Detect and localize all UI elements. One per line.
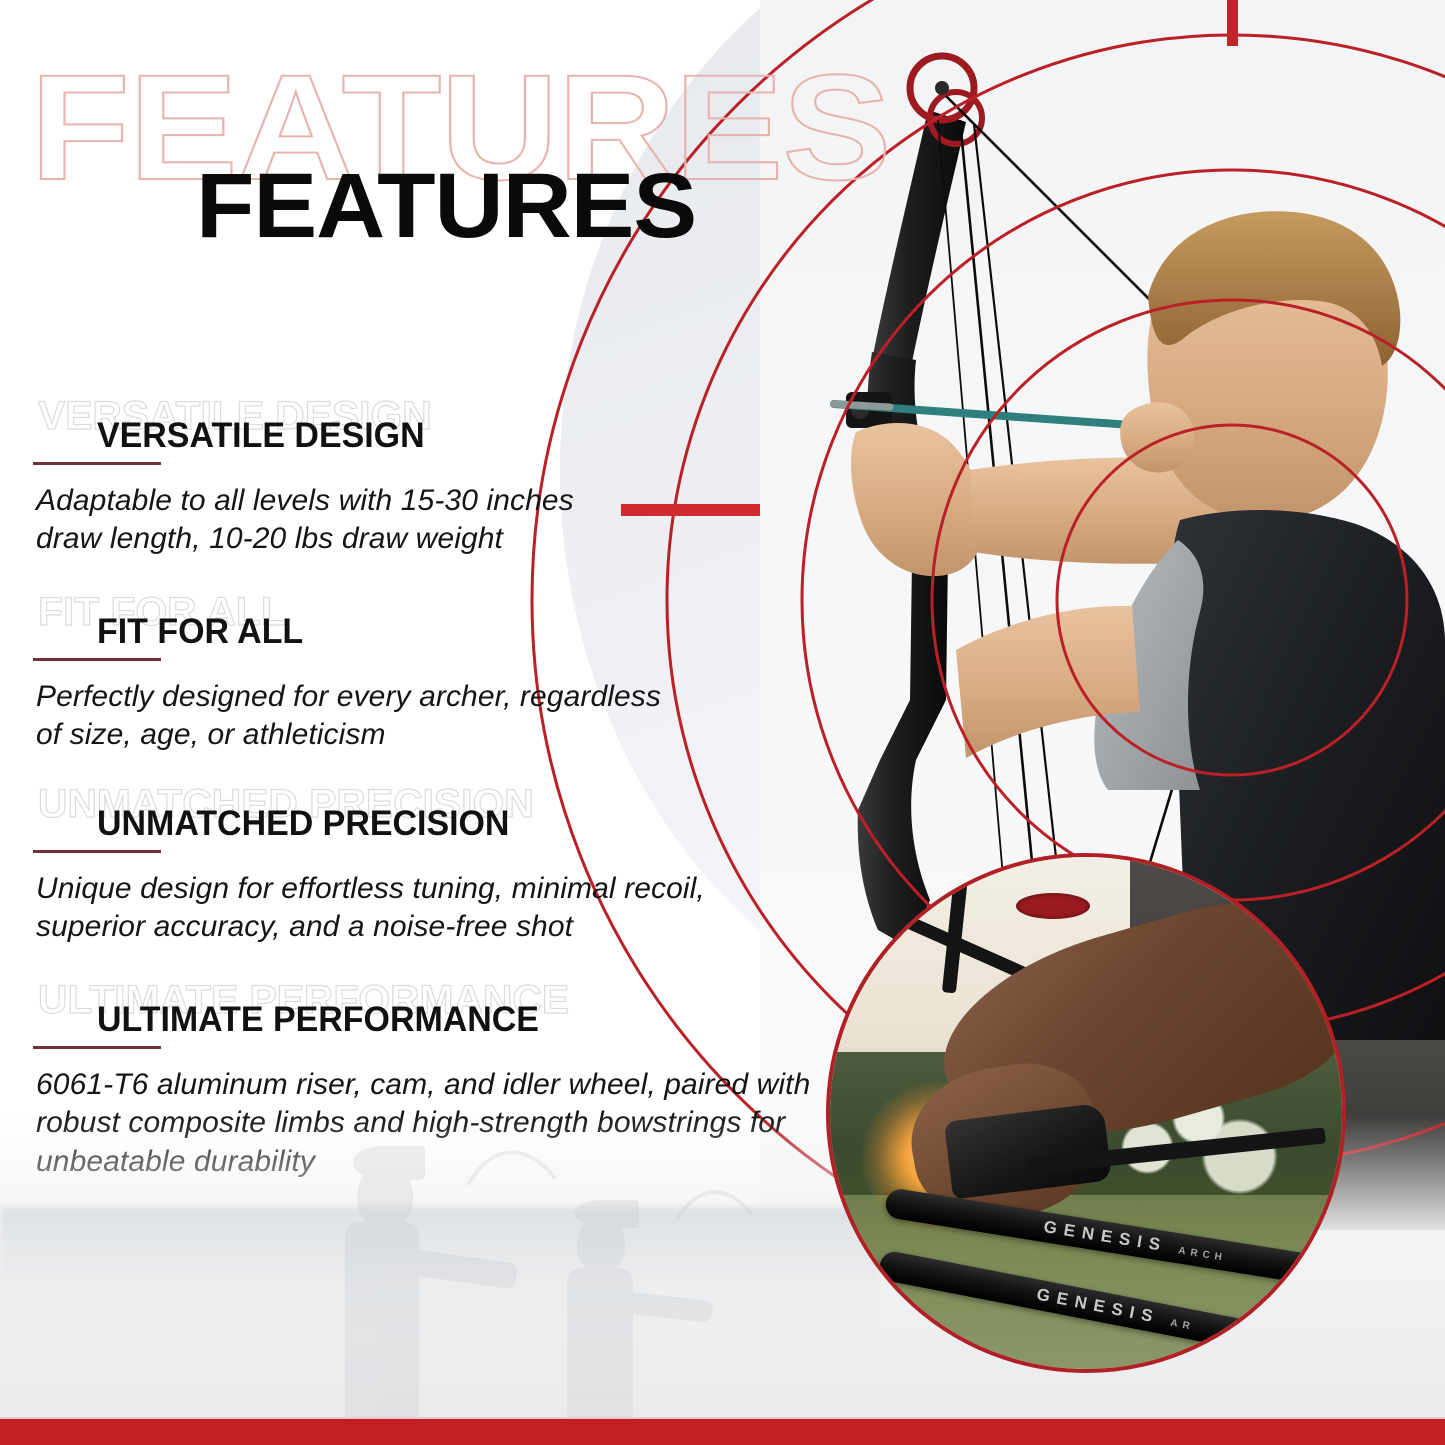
feature-heading: ULTIMATE PERFORMANCE: [97, 1002, 539, 1037]
crosshair-tick-vertical-icon: [1227, 0, 1238, 46]
infographic-canvas: FEATURES FEATURES VERSATILE DESIGN VERSA…: [0, 0, 1445, 1445]
feature-heading: FIT FOR ALL: [97, 614, 303, 649]
feature-body: Adaptable to all levels with 15-30 inche…: [36, 482, 596, 559]
feature-underline: [33, 1046, 161, 1049]
background-archer-silhouette-2: [525, 1190, 785, 1430]
feature-underline: [33, 462, 161, 465]
inset-red-cam-icon: [1016, 893, 1090, 919]
feature-heading: VERSATILE DESIGN: [97, 418, 425, 453]
feature-heading: UNMATCHED PRECISION: [97, 806, 509, 841]
feature-underline: [33, 850, 161, 853]
crosshair-tick-horizontal-icon: [621, 504, 760, 516]
feature-underline: [33, 658, 161, 661]
feature-body: Perfectly designed for every archer, reg…: [36, 678, 676, 755]
page-title: FEATURES: [196, 160, 696, 252]
footer-accent-bar: [0, 1419, 1445, 1445]
product-detail-inset: GENESISARCH GENESISAR: [826, 853, 1346, 1373]
feature-body: Unique design for effortless tuning, min…: [36, 870, 726, 947]
